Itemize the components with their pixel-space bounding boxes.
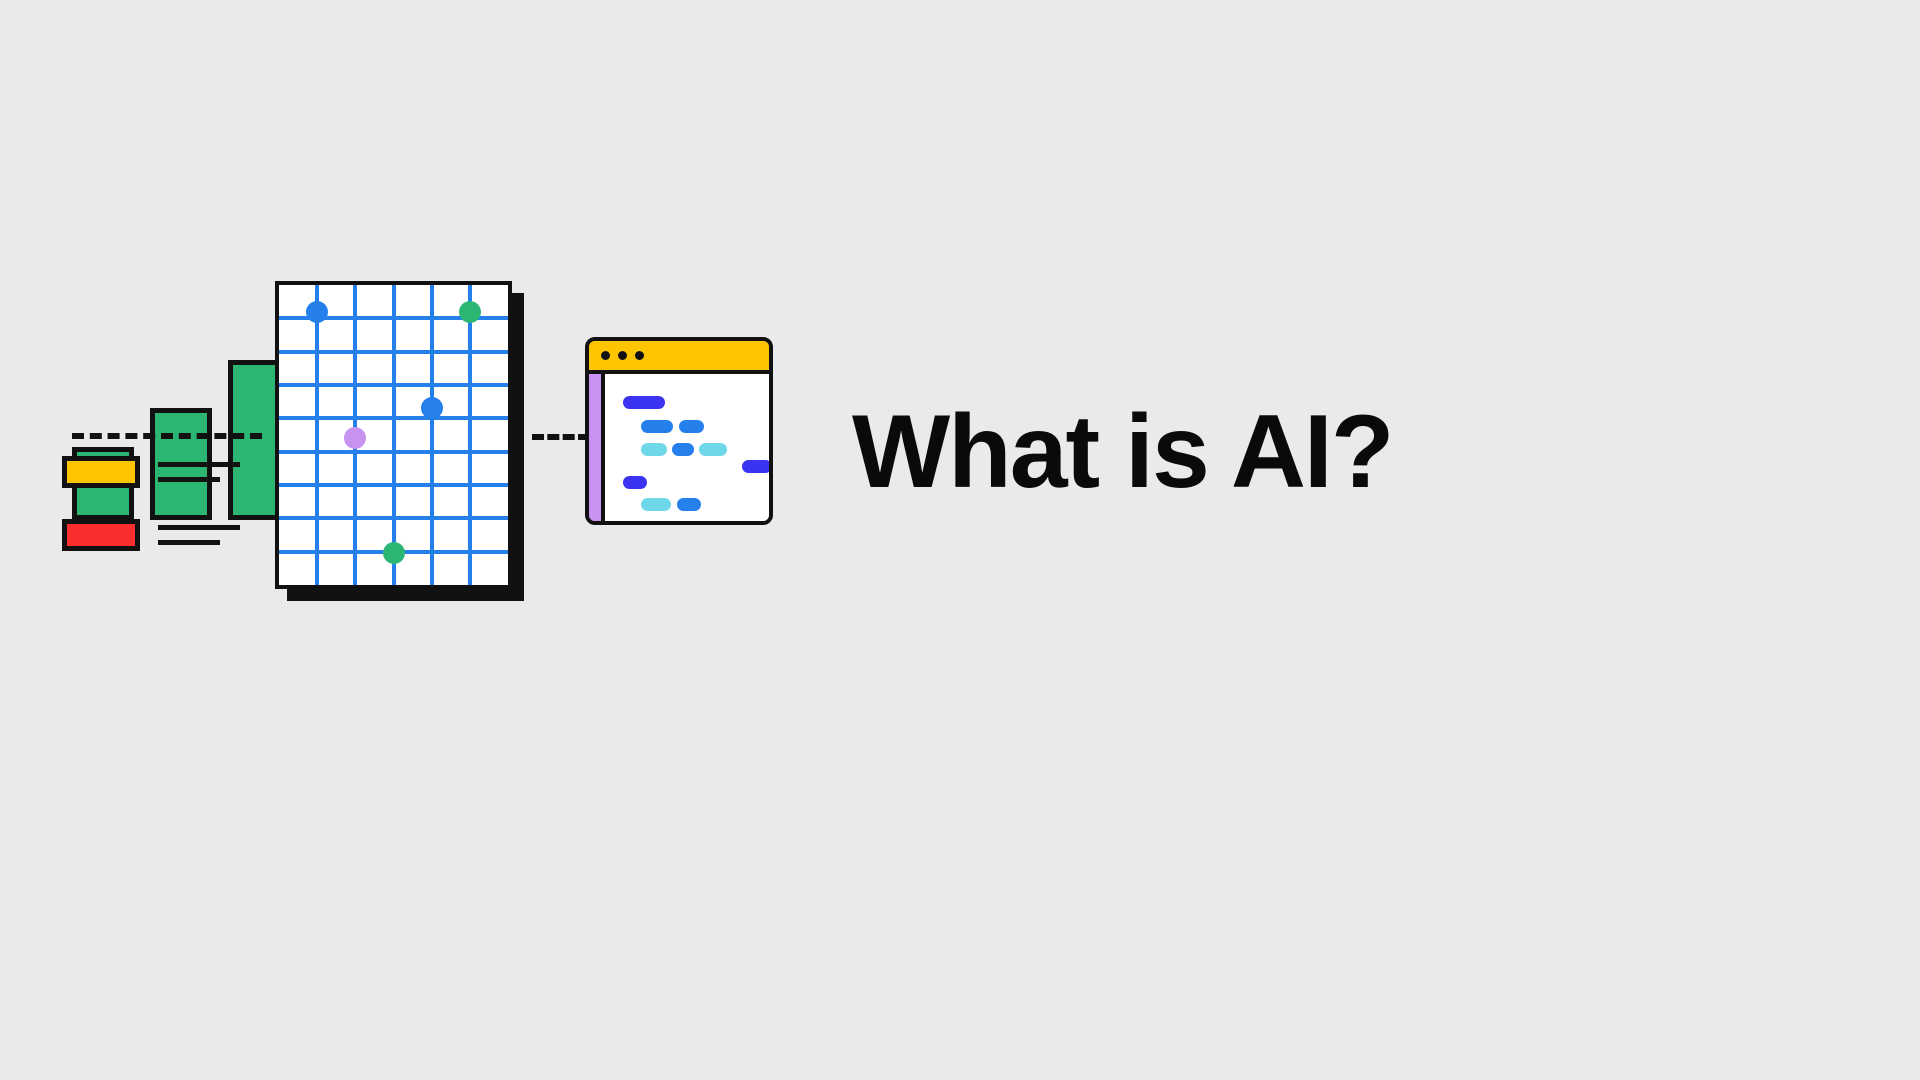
green-dot-2 [383, 542, 405, 564]
legend-lines-yellow [158, 462, 240, 482]
code-token [742, 460, 772, 473]
blue-dot-1 [306, 301, 328, 323]
gridline-horizontal [279, 416, 508, 420]
scatter-plot-card [275, 281, 512, 589]
code-token [699, 443, 727, 456]
legend-line-red-1 [158, 525, 240, 530]
editor-sidebar [589, 374, 605, 521]
gridline-horizontal [279, 483, 508, 487]
dashed-axis-line [72, 433, 262, 439]
legend-lines-red [158, 525, 240, 545]
gridline-vertical [430, 285, 434, 585]
scatter-gridlines [279, 285, 508, 585]
legend-line-yellow-1 [158, 462, 240, 467]
code-token [679, 420, 704, 433]
code-editor-window [585, 337, 773, 525]
legend-line-yellow-2 [158, 477, 220, 482]
code-token [641, 420, 673, 433]
code-token [641, 521, 685, 525]
scatter-plot-panel [275, 281, 512, 589]
bar-chart [72, 340, 272, 520]
gridline-vertical [315, 285, 319, 585]
gridline-horizontal [279, 516, 508, 520]
window-maximize-icon[interactable] [635, 351, 644, 360]
legend-line-red-2 [158, 540, 220, 545]
window-titlebar [589, 341, 769, 374]
window-minimize-icon[interactable] [618, 351, 627, 360]
legend-swatch-yellow [62, 456, 140, 488]
green-dot-1 [459, 301, 481, 323]
legend-swatch-red [62, 519, 140, 551]
code-token [672, 443, 694, 456]
code-token [623, 476, 647, 489]
gridline-horizontal [279, 450, 508, 454]
window-close-icon[interactable] [601, 351, 610, 360]
legend-item-yellow [62, 456, 240, 488]
code-token [623, 396, 665, 409]
code-token [677, 498, 701, 511]
code-token [641, 443, 667, 456]
gridline-vertical [392, 285, 396, 585]
code-token [641, 498, 671, 511]
purple-dot-1 [344, 427, 366, 449]
page-title: What is AI? [852, 398, 1472, 507]
legend-item-red [62, 519, 240, 551]
gridline-horizontal [279, 350, 508, 354]
code-token [692, 521, 714, 525]
gridline-vertical [468, 285, 472, 585]
dashed-connector-line [532, 434, 590, 440]
editor-code-area [609, 374, 769, 521]
gridline-horizontal [279, 383, 508, 387]
illustration-canvas: What is AI? [0, 0, 1920, 1080]
blue-dot-2 [421, 397, 443, 419]
